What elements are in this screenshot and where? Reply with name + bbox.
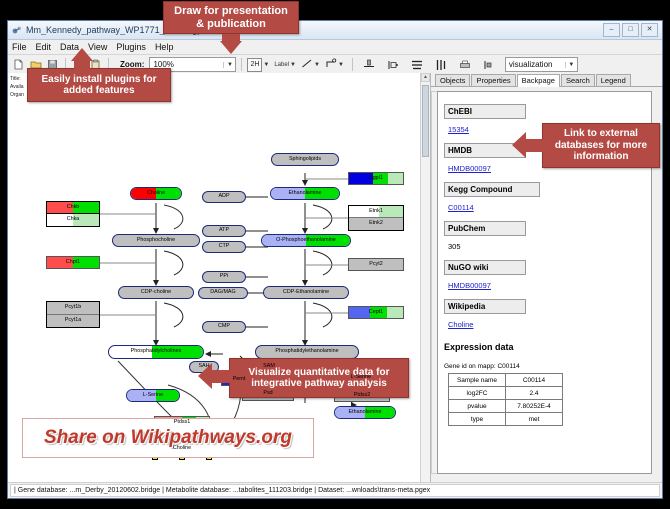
cell-value-log2fc: 2.4 <box>506 387 563 400</box>
node-phosphatidylcholines: Phosphatidylcholines <box>108 345 204 359</box>
cell-value-sample: C00114 <box>506 374 563 387</box>
screenshot-root: Mm_Kennedy_pathway_WP1771_45176.gpml – □… <box>0 0 670 509</box>
gene-sgpl1: Sgpl1 <box>348 172 404 185</box>
gene-chpt1: Chpt1 <box>46 256 100 269</box>
expression-table: Sample nameC00114 log2FC2.4 pvalue7.8025… <box>448 373 563 426</box>
chevron-down-icon[interactable]: ▼ <box>223 62 235 68</box>
callout-draw: Draw for presentation & publication <box>163 1 299 34</box>
status-bar: | Gene database: ...m_Derby_20120602.bri… <box>8 482 662 498</box>
scroll-up-arrow[interactable]: ▲ <box>421 73 430 82</box>
menu-item-plugins[interactable]: Plugins <box>116 42 146 52</box>
db-link-nugo[interactable]: HMDB00097 <box>448 281 491 290</box>
node-sphingolipids: Sphingolipids <box>271 153 339 166</box>
gene-cept1: Cept1 <box>348 306 404 319</box>
label-tool-text[interactable]: Label <box>274 62 289 68</box>
db-link-chebi[interactable]: 15354 <box>448 125 469 134</box>
scroll-thumb[interactable] <box>422 85 429 157</box>
tab-properties[interactable]: Properties <box>471 74 515 86</box>
gene-chkb: Chkb <box>47 202 99 214</box>
cell-label-type: type <box>449 413 506 426</box>
app-icon <box>12 25 22 35</box>
db-header-kegg: Kegg Compound <box>444 182 540 197</box>
node-cmp: CMP <box>202 321 246 333</box>
callout-link: Link to external databases for more info… <box>542 123 660 168</box>
maximize-button[interactable]: □ <box>622 23 639 37</box>
toolbar-separator-4 <box>352 58 353 71</box>
distribute-icon[interactable] <box>482 57 497 72</box>
node-atp: ATP <box>202 225 246 237</box>
db-header-chebi: ChEBI <box>444 104 526 119</box>
callout-visualize: Visualize quantitative data for integrat… <box>229 358 409 398</box>
gene-box-pcyt1: Pcyt1b Pcyt1a <box>46 301 100 328</box>
callout-visualize-stem <box>211 370 233 383</box>
datanode-group[interactable]: 2H ▼ <box>247 58 272 72</box>
node-ctp: CTP <box>202 241 246 253</box>
table-row: Sample nameC00114 <box>449 374 563 387</box>
toolbar-separator-3 <box>241 58 242 71</box>
chevron-down-icon-2[interactable]: ▼ <box>263 62 269 68</box>
table-row: typemet <box>449 413 563 426</box>
menu-item-help[interactable]: Help <box>155 42 174 52</box>
minimize-button[interactable]: – <box>603 23 620 37</box>
db-link-kegg[interactable]: C00114 <box>448 203 474 212</box>
node-ppi: PPi <box>202 271 246 283</box>
gene-id-line: Gene id on mapp: C00114 <box>444 363 649 370</box>
node-l-serine-left: L-Serine <box>126 389 180 402</box>
callout-share-text: Share on Wikipathways.org <box>44 427 292 449</box>
side-panel-tabs: Objects Properties Backpage Search Legen… <box>431 73 662 87</box>
chevron-down-icon-5[interactable]: ▼ <box>338 62 344 68</box>
tab-legend[interactable]: Legend <box>596 74 631 86</box>
node-cdp-ethanolamine: CDP-Ethanolamine <box>263 286 349 299</box>
connector-icon[interactable] <box>325 58 337 71</box>
cell-value-pvalue: 7.80252E-4 <box>506 400 563 413</box>
print-icon[interactable] <box>458 57 473 72</box>
datanode-icon[interactable]: 2H <box>247 58 262 72</box>
window-controls[interactable]: – □ ✕ <box>603 23 658 37</box>
chevron-down-icon-3[interactable]: ▼ <box>290 62 296 68</box>
cell-label-sample: Sample name <box>449 374 506 387</box>
expression-data-heading: Expression data <box>444 342 649 352</box>
cell-label-log2fc: log2FC <box>449 387 506 400</box>
chevron-down-icon-6[interactable]: ▼ <box>565 62 577 68</box>
callout-plugins-arrow <box>71 48 93 61</box>
node-adp: ADP <box>202 191 246 203</box>
table-row: pvalue7.80252E-4 <box>449 400 563 413</box>
align-columns-icon[interactable] <box>434 57 449 72</box>
gene-pcyt1b: Pcyt1b <box>47 302 99 315</box>
anchor-group[interactable]: ▼ <box>325 58 347 71</box>
menu-bar: File Edit Data View Plugins Help <box>8 40 662 55</box>
db-link-hmdb[interactable]: HMDB00097 <box>448 164 491 173</box>
menu-item-file[interactable]: File <box>12 42 27 52</box>
callout-share: Share on Wikipathways.org <box>22 418 314 458</box>
chevron-down-icon-4[interactable]: ▼ <box>314 62 320 68</box>
tab-search[interactable]: Search <box>561 74 595 86</box>
node-dag-mag: DAG/MAG <box>198 287 248 299</box>
visualization-combo[interactable]: visualization ▼ <box>505 57 578 72</box>
gene-etnk1: Etnk1 <box>349 206 403 218</box>
db-header-wikipedia: Wikipedia <box>444 299 526 314</box>
tab-objects[interactable]: Objects <box>435 74 470 86</box>
tab-backpage[interactable]: Backpage <box>517 74 560 87</box>
node-o-phosphoethanolamine: O-Phosphoethanolamine <box>261 234 351 247</box>
node-ethanolamine-top: Ethanolamine <box>270 187 340 200</box>
line-icon[interactable] <box>301 58 313 71</box>
callout-link-stem <box>525 139 545 152</box>
db-link-wikipedia[interactable]: Choline <box>448 320 473 329</box>
gene-box-chk: Chkb Chka <box>46 201 100 227</box>
status-text: | Gene database: ...m_Derby_20120602.bri… <box>10 484 660 497</box>
node-phosphatidylethanolamine: Phosphatidylethanolamine <box>255 345 359 359</box>
gene-box-etnk: Etnk1 Etnk2 <box>348 205 404 231</box>
db-header-pubchem: PubChem <box>444 221 526 236</box>
align-top-icon[interactable] <box>362 57 377 72</box>
node-cdp-choline: CDP-choline <box>118 286 194 299</box>
visualization-value: visualization <box>509 60 553 69</box>
callout-plugins: Easily install plugins for added feature… <box>27 68 171 102</box>
label-group[interactable]: Label ▼ <box>274 62 299 68</box>
callout-plugins-stem <box>74 60 90 70</box>
cell-value-type: met <box>506 413 563 426</box>
node-phosphocholine: Phosphocholine <box>112 234 200 247</box>
cell-label-pvalue: pvalue <box>449 400 506 413</box>
node-ethanolamine-bottom: Ethanolamine <box>334 406 396 419</box>
gene-pcyt2: Pcyt2 <box>348 258 404 271</box>
callout-link-arrow <box>512 132 526 158</box>
db-value-pubchem: 305 <box>448 242 461 251</box>
close-button[interactable]: ✕ <box>641 23 658 37</box>
align-rows-icon[interactable] <box>410 57 425 72</box>
callout-draw-arrow <box>220 41 242 54</box>
gene-pcyt1a: Pcyt1a <box>47 315 99 327</box>
db-header-nugo: NuGO wiki <box>444 260 526 275</box>
canvas-vertical-scrollbar[interactable]: ▲ <box>420 73 430 482</box>
table-row: log2FC2.4 <box>449 387 563 400</box>
gene-etnk2: Etnk2 <box>349 218 403 230</box>
node-choline-top: Choline <box>130 187 182 200</box>
align-left-icon[interactable] <box>386 57 401 72</box>
gene-chka: Chka <box>47 214 99 226</box>
new-icon[interactable] <box>11 57 26 72</box>
title-bar: Mm_Kennedy_pathway_WP1771_45176.gpml – □… <box>8 21 662 40</box>
line-group[interactable]: ▼ <box>301 58 323 71</box>
menu-item-edit[interactable]: Edit <box>36 42 52 52</box>
